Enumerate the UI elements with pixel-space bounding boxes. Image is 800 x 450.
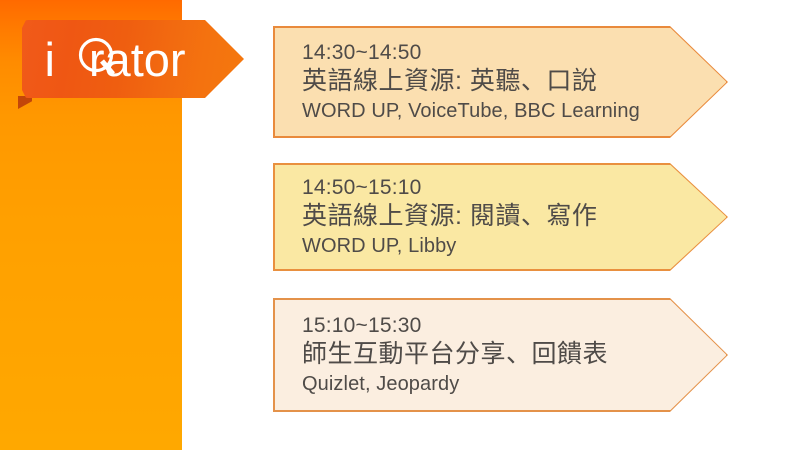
agenda-card-1-time: 14:30~14:50 — [302, 40, 682, 66]
agenda-card-2[interactable]: 14:50~15:10 英語線上資源: 閱讀、寫作 WORD UP, Libby — [273, 163, 728, 271]
magnifier-q-icon — [78, 36, 118, 82]
agenda-card-3-tools: Quizlet, Jeopardy — [302, 371, 682, 397]
agenda-card-3-time: 15:10~15:30 — [302, 313, 682, 339]
agenda-card-3-content: 15:10~15:30 師生互動平台分享、回饋表 Quizlet, Jeopar… — [302, 298, 682, 412]
logo-banner-shape — [22, 20, 244, 98]
logo-banner[interactable]: i​rator — [22, 20, 244, 98]
agenda-card-2-time: 14:50~15:10 — [302, 175, 682, 201]
agenda-card-1-content: 14:30~14:50 英語線上資源: 英聽、口說 WORD UP, Voice… — [302, 26, 682, 138]
agenda-card-1[interactable]: 14:30~14:50 英語線上資源: 英聽、口說 WORD UP, Voice… — [273, 26, 728, 138]
agenda-card-2-tools: WORD UP, Libby — [302, 233, 682, 259]
slide-canvas: i​rator 14:30~14:50 英語線上資源: 英聽、口說 WORD U… — [0, 0, 800, 450]
agenda-card-1-topic: 英語線上資源: 英聽、口說 — [302, 66, 682, 98]
agenda-card-1-tools: WORD UP, VoiceTube, BBC Learning — [302, 98, 682, 124]
agenda-card-2-content: 14:50~15:10 英語線上資源: 閱讀、寫作 WORD UP, Libby — [302, 163, 682, 271]
agenda-card-2-topic: 英語線上資源: 閱讀、寫作 — [302, 201, 682, 233]
agenda-card-3[interactable]: 15:10~15:30 師生互動平台分享、回饋表 Quizlet, Jeopar… — [273, 298, 728, 412]
agenda-card-3-topic: 師生互動平台分享、回饋表 — [302, 339, 682, 371]
